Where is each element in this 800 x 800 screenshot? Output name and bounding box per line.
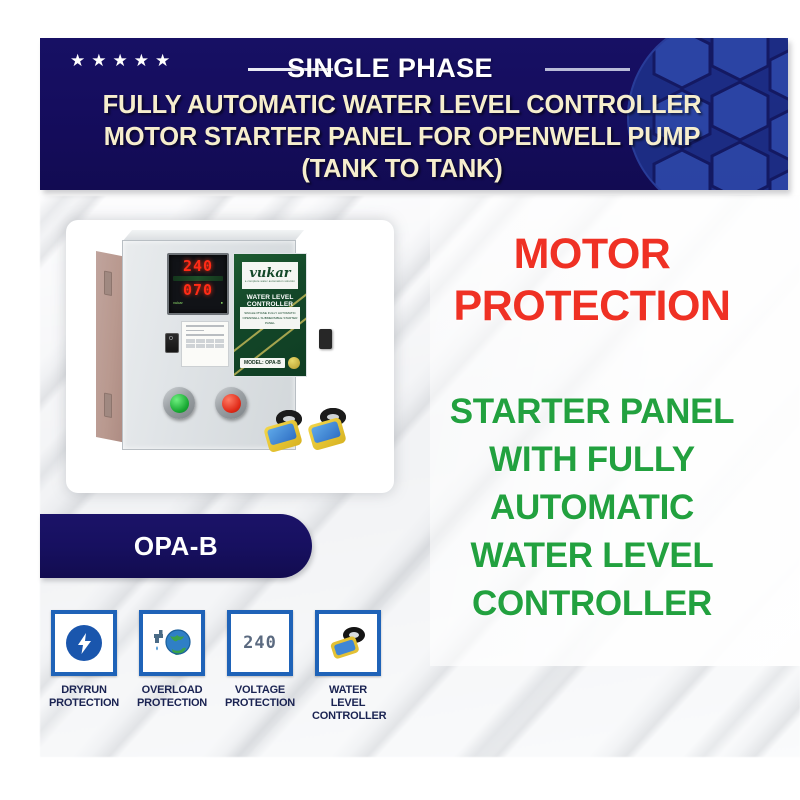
product-spec-label: vukar a complete water automation soluti… [233,253,307,377]
model-badge-label: OPA-B [134,531,218,562]
feature-overload-protection: OVERLOAD PROTECTION [136,610,208,723]
meter-brand-mark: vukar [173,300,183,305]
sticker-text-line [186,334,224,336]
label-logo-box: vukar a complete water automation soluti… [242,262,298,289]
feature-label: VOLTAGE PROTECTION [224,684,296,710]
tap-globe-icon [152,627,192,659]
red-headline-line-2: PROTECTION [404,280,780,332]
sticker-cell [196,344,205,348]
sticker-text-line [186,330,204,332]
meter-brand-row: vukar ● [169,299,227,305]
control-panel-enclosure: 240 070 vukar ● vukar a complete water a… [96,240,336,455]
start-button-lens [170,394,189,413]
feature-label-line-1: WATER LEVEL [312,684,384,710]
feature-label-line-2: PROTECTION [136,697,208,710]
green-headline-line-5: CONTROLLER [404,580,780,628]
stop-button-lens [222,394,241,413]
panel-side-wall [96,251,124,442]
feature-label-line-2: PROTECTION [224,697,296,710]
label-tagline: a complete water automation solution [245,280,295,283]
feature-label: WATER LEVEL CONTROLLER [312,684,384,723]
green-headline-block: STARTER PANEL WITH FULLY AUTOMATIC WATER… [404,388,780,628]
feature-label-line-2: CONTROLLER [312,710,384,723]
sticker-cell [206,344,215,348]
lightning-bolt-icon [66,625,102,661]
meter-voltage-reading: 240 [169,258,227,275]
sticker-text-line [186,325,224,327]
sticker-cell [186,339,195,343]
green-headline-line-4: WATER LEVEL [404,532,780,580]
red-headline-line-1: MOTOR [404,228,780,280]
feature-label-line-1: OVERLOAD [136,684,208,697]
feature-label-line-2: PROTECTION [48,697,120,710]
bolt-glyph [77,633,92,654]
digital-meter: 240 070 vukar ● [167,253,229,315]
label-model-number: MODEL: OPA-B [240,358,285,368]
label-subtitle-2: OPENWELL SUBMERSIBLE STARTER PANEL [240,316,300,326]
power-icon: O [169,337,173,342]
label-brand: vukar [249,268,290,280]
feature-voltage-protection: 240 VOLTAGE PROTECTION [224,610,296,723]
meter-mode-mark: ● [221,300,223,305]
float-sensor [310,408,352,452]
feature-label: OVERLOAD PROTECTION [136,684,208,710]
green-headline-line-1: STARTER PANEL [404,388,780,436]
panel-hinge [104,271,112,297]
header-eyebrow: SINGLE PHASE [40,53,740,84]
feature-water-level-controller: WATER LEVEL CONTROLLER [312,610,384,723]
water-level-icon-frame [315,610,381,676]
wiring-instruction-sticker [181,321,229,367]
voltage-icon-frame: 240 [227,610,293,676]
power-rocker-switch[interactable]: O [165,333,179,353]
sticker-cell [196,339,205,343]
header-banner: ★ ★ ★ ★ ★ SINGLE PHASE FULLY AUTOMATIC W… [40,38,788,190]
header-title-line-3: (TANK TO TANK) [40,154,764,184]
sticker-table [186,339,224,348]
sticker-cell [206,339,215,343]
sticker-cell [215,344,224,348]
overload-icon-frame [139,610,205,676]
product-advertisement-canvas: ★ ★ ★ ★ ★ SINGLE PHASE FULLY AUTOMATIC W… [0,0,800,800]
red-headline-block: MOTOR PROTECTION [404,228,780,332]
feature-dryrun-protection: DRYRUN PROTECTION [48,610,120,723]
float-switch-icon [327,626,369,660]
sticker-cell [215,339,224,343]
voltage-display-icon: 240 [243,633,277,653]
start-push-button[interactable] [163,387,195,419]
green-headline-line-3: AUTOMATIC [404,484,780,532]
panel-hinge [104,393,112,419]
stop-push-button[interactable] [215,387,247,419]
label-title: WATER LEVEL CONTROLLER [234,294,306,308]
meter-current-reading: 070 [169,282,227,299]
model-badge: OPA-B [40,514,312,578]
sticker-cell [186,344,195,348]
feature-label-line-1: DRYRUN [48,684,120,697]
header-title-line-2: MOTOR STARTER PANEL FOR OPENWELL PUMP [40,122,764,152]
certification-seal-icon [288,357,300,369]
feature-list: DRYRUN PROTECTION OVERLOAD PROT [48,610,388,723]
header-title-line-1: FULLY AUTOMATIC WATER LEVEL CONTROLLER [40,90,764,120]
float-sensor [266,410,308,454]
panel-latch[interactable] [319,329,332,349]
feature-label: DRYRUN PROTECTION [48,684,120,710]
sensor-body [307,417,347,451]
feature-label-line-1: VOLTAGE [224,684,296,697]
label-subtitle-box: SINGLE PHASE FULLY AUTOMATIC OPENWELL SU… [240,307,300,329]
green-headline-line-2: WITH FULLY [404,436,780,484]
product-photo: 240 070 vukar ● vukar a complete water a… [66,220,394,493]
sensor-body [263,419,303,453]
dryrun-icon-frame [51,610,117,676]
